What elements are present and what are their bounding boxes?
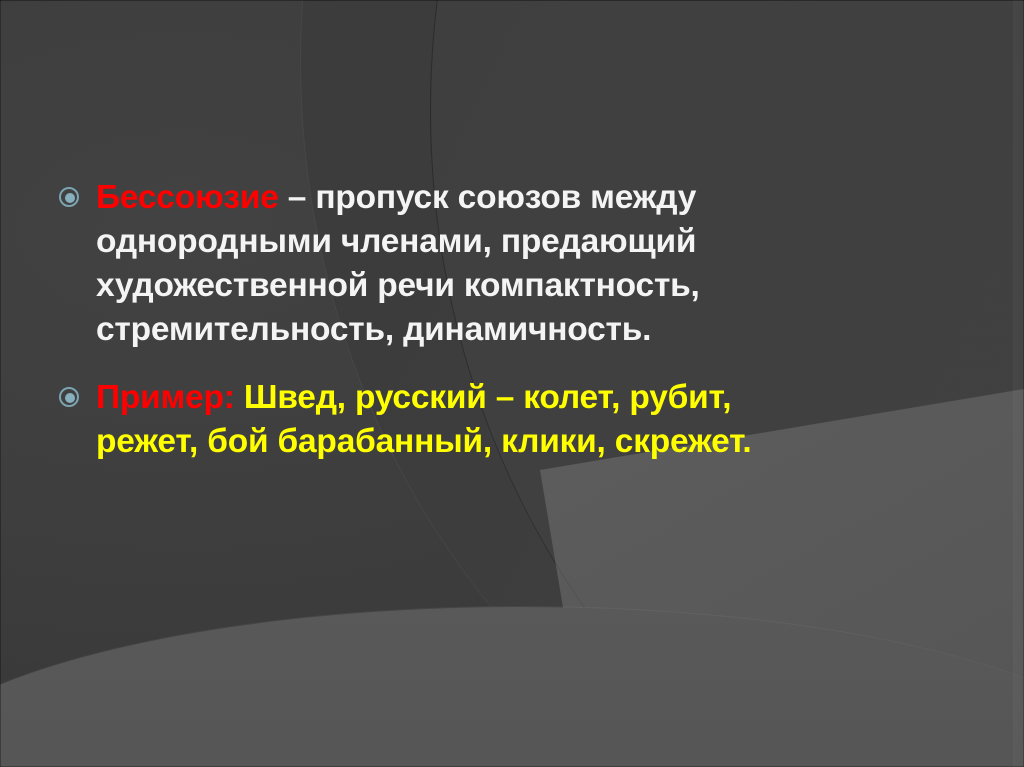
presentation-slide: Бессоюзие – пропуск союзов между однород… <box>0 0 1024 767</box>
slide-frame <box>0 0 1024 767</box>
